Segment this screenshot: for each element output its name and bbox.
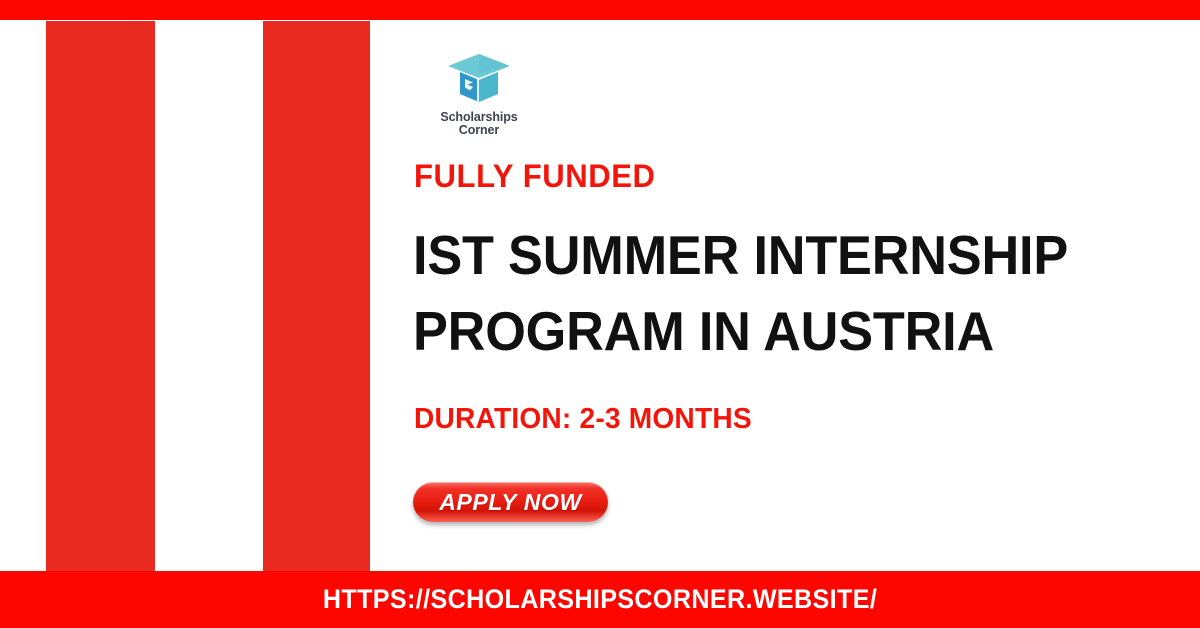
brand-name-line2: Corner [425,124,533,137]
headline-line-1: IST SUMMER INTERNSHIP [413,217,1135,293]
website-url[interactable]: HTTPS://SCHOLARSHIPSCORNER.WEBSITE/ [323,584,877,615]
top-red-bar [0,0,1200,20]
footer-bar: HTTPS://SCHOLARSHIPSCORNER.WEBSITE/ [0,571,1200,628]
apply-now-button[interactable]: APPLY NOW [413,482,608,522]
duration-text: DURATION: 2-3 MONTHS [414,403,752,436]
scholarship-poster: Scholarships Corner FULLY FUNDED IST SUM… [0,0,1200,628]
graduation-cap-icon [446,51,512,109]
page-title: IST SUMMER INTERNSHIP PROGRAM IN AUSTRIA [413,217,1135,369]
content-column: Scholarships Corner FULLY FUNDED IST SUM… [413,21,1183,571]
funding-eyebrow: FULLY FUNDED [414,158,656,195]
brand-logo-text: Scholarships Corner [425,111,533,138]
brand-logo: Scholarships Corner [425,51,533,138]
flag-stripe-left [46,21,155,571]
headline-line-2: PROGRAM IN AUSTRIA [413,293,1135,369]
flag-stripe-right [263,21,370,571]
brand-name-line1: Scholarships [440,110,517,124]
